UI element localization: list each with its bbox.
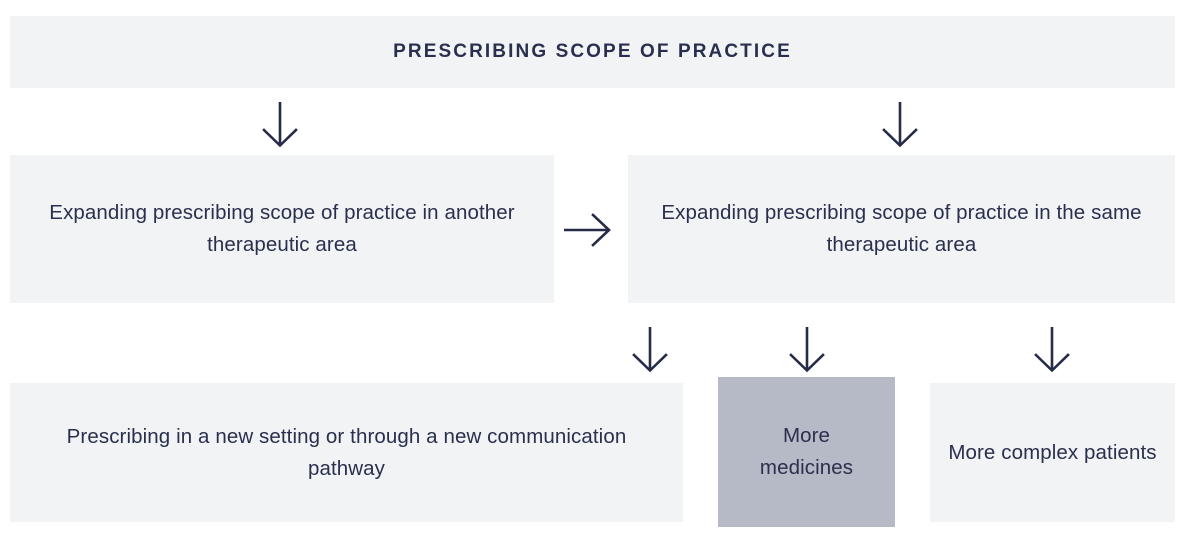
box-more-medicines: More medicines (718, 377, 895, 527)
arrow-down-icon (781, 325, 833, 373)
box-label: More complex patients (932, 437, 1172, 469)
page-title: PRESCRIBING SCOPE OF PRACTICE (377, 37, 808, 66)
box-prescribing-new-setting: Prescribing in a new setting or through … (10, 383, 683, 522)
header-banner: PRESCRIBING SCOPE OF PRACTICE (10, 16, 1175, 88)
box-expanding-same-therapeutic-area: Expanding prescribing scope of practice … (628, 155, 1175, 303)
arrow-right-icon (562, 212, 616, 248)
box-label: Prescribing in a new setting or through … (10, 421, 683, 485)
box-label: Expanding prescribing scope of practice … (628, 197, 1175, 261)
arrow-down-icon (254, 100, 306, 148)
box-label: More medicines (718, 420, 895, 484)
box-label: Expanding prescribing scope of practice … (10, 197, 554, 261)
box-more-complex-patients: More complex patients (930, 383, 1175, 522)
arrow-down-icon (874, 100, 926, 148)
arrow-down-icon (1026, 325, 1078, 373)
box-expanding-another-therapeutic-area: Expanding prescribing scope of practice … (10, 155, 554, 303)
arrow-down-icon (624, 325, 676, 373)
diagram-canvas: PRESCRIBING SCOPE OF PRACTICE Expanding … (0, 0, 1185, 539)
